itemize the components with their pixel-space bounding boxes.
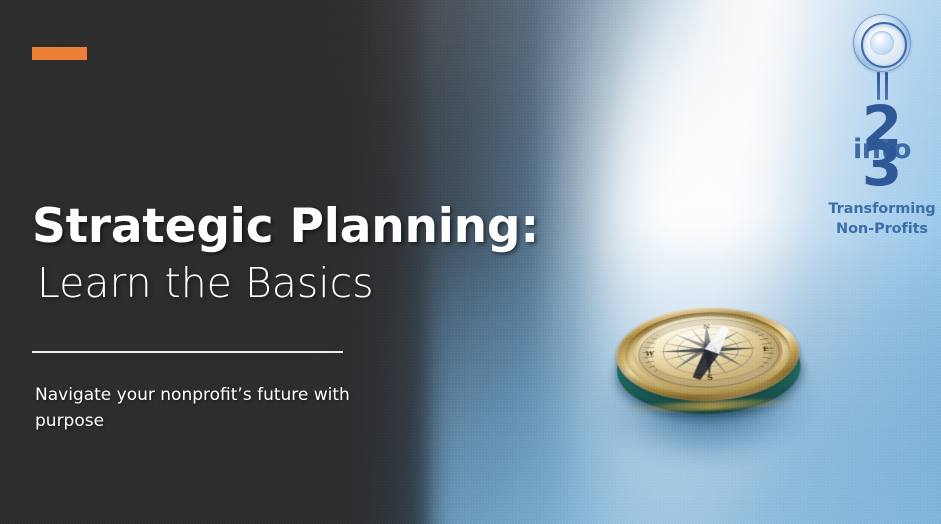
logo-tagline-line1: Transforming xyxy=(826,200,938,220)
page-subtitle: Learn the Basics xyxy=(37,263,374,304)
page-title: Strategic Planning: xyxy=(32,203,539,250)
logo-wordmark: 2 into 3 xyxy=(832,98,932,194)
slide-tagline: Navigate your nonprofit’s future with pu… xyxy=(35,383,395,435)
title-divider-rule xyxy=(32,351,343,353)
compass-image: N E S W xyxy=(614,284,804,439)
logo-tagline-line2: Non-Profits xyxy=(826,220,938,240)
concentric-circle-icon xyxy=(853,14,911,72)
compass-cardinal-west: W xyxy=(645,350,655,358)
compass-cardinal-south: S xyxy=(707,373,714,382)
compass-cardinal-east: E xyxy=(762,345,770,353)
orange-accent-bar xyxy=(32,47,87,60)
title-slide: N E S W Strategic Planning: Learn the Ba… xyxy=(0,0,941,524)
logo-tagline: Transforming Non-Profits xyxy=(826,200,938,239)
compass-cardinal-north: N xyxy=(703,323,711,330)
logo-number-three: 3 xyxy=(832,136,932,194)
company-logo[interactable]: 2 into 3 Transforming Non-Profits xyxy=(826,14,938,254)
